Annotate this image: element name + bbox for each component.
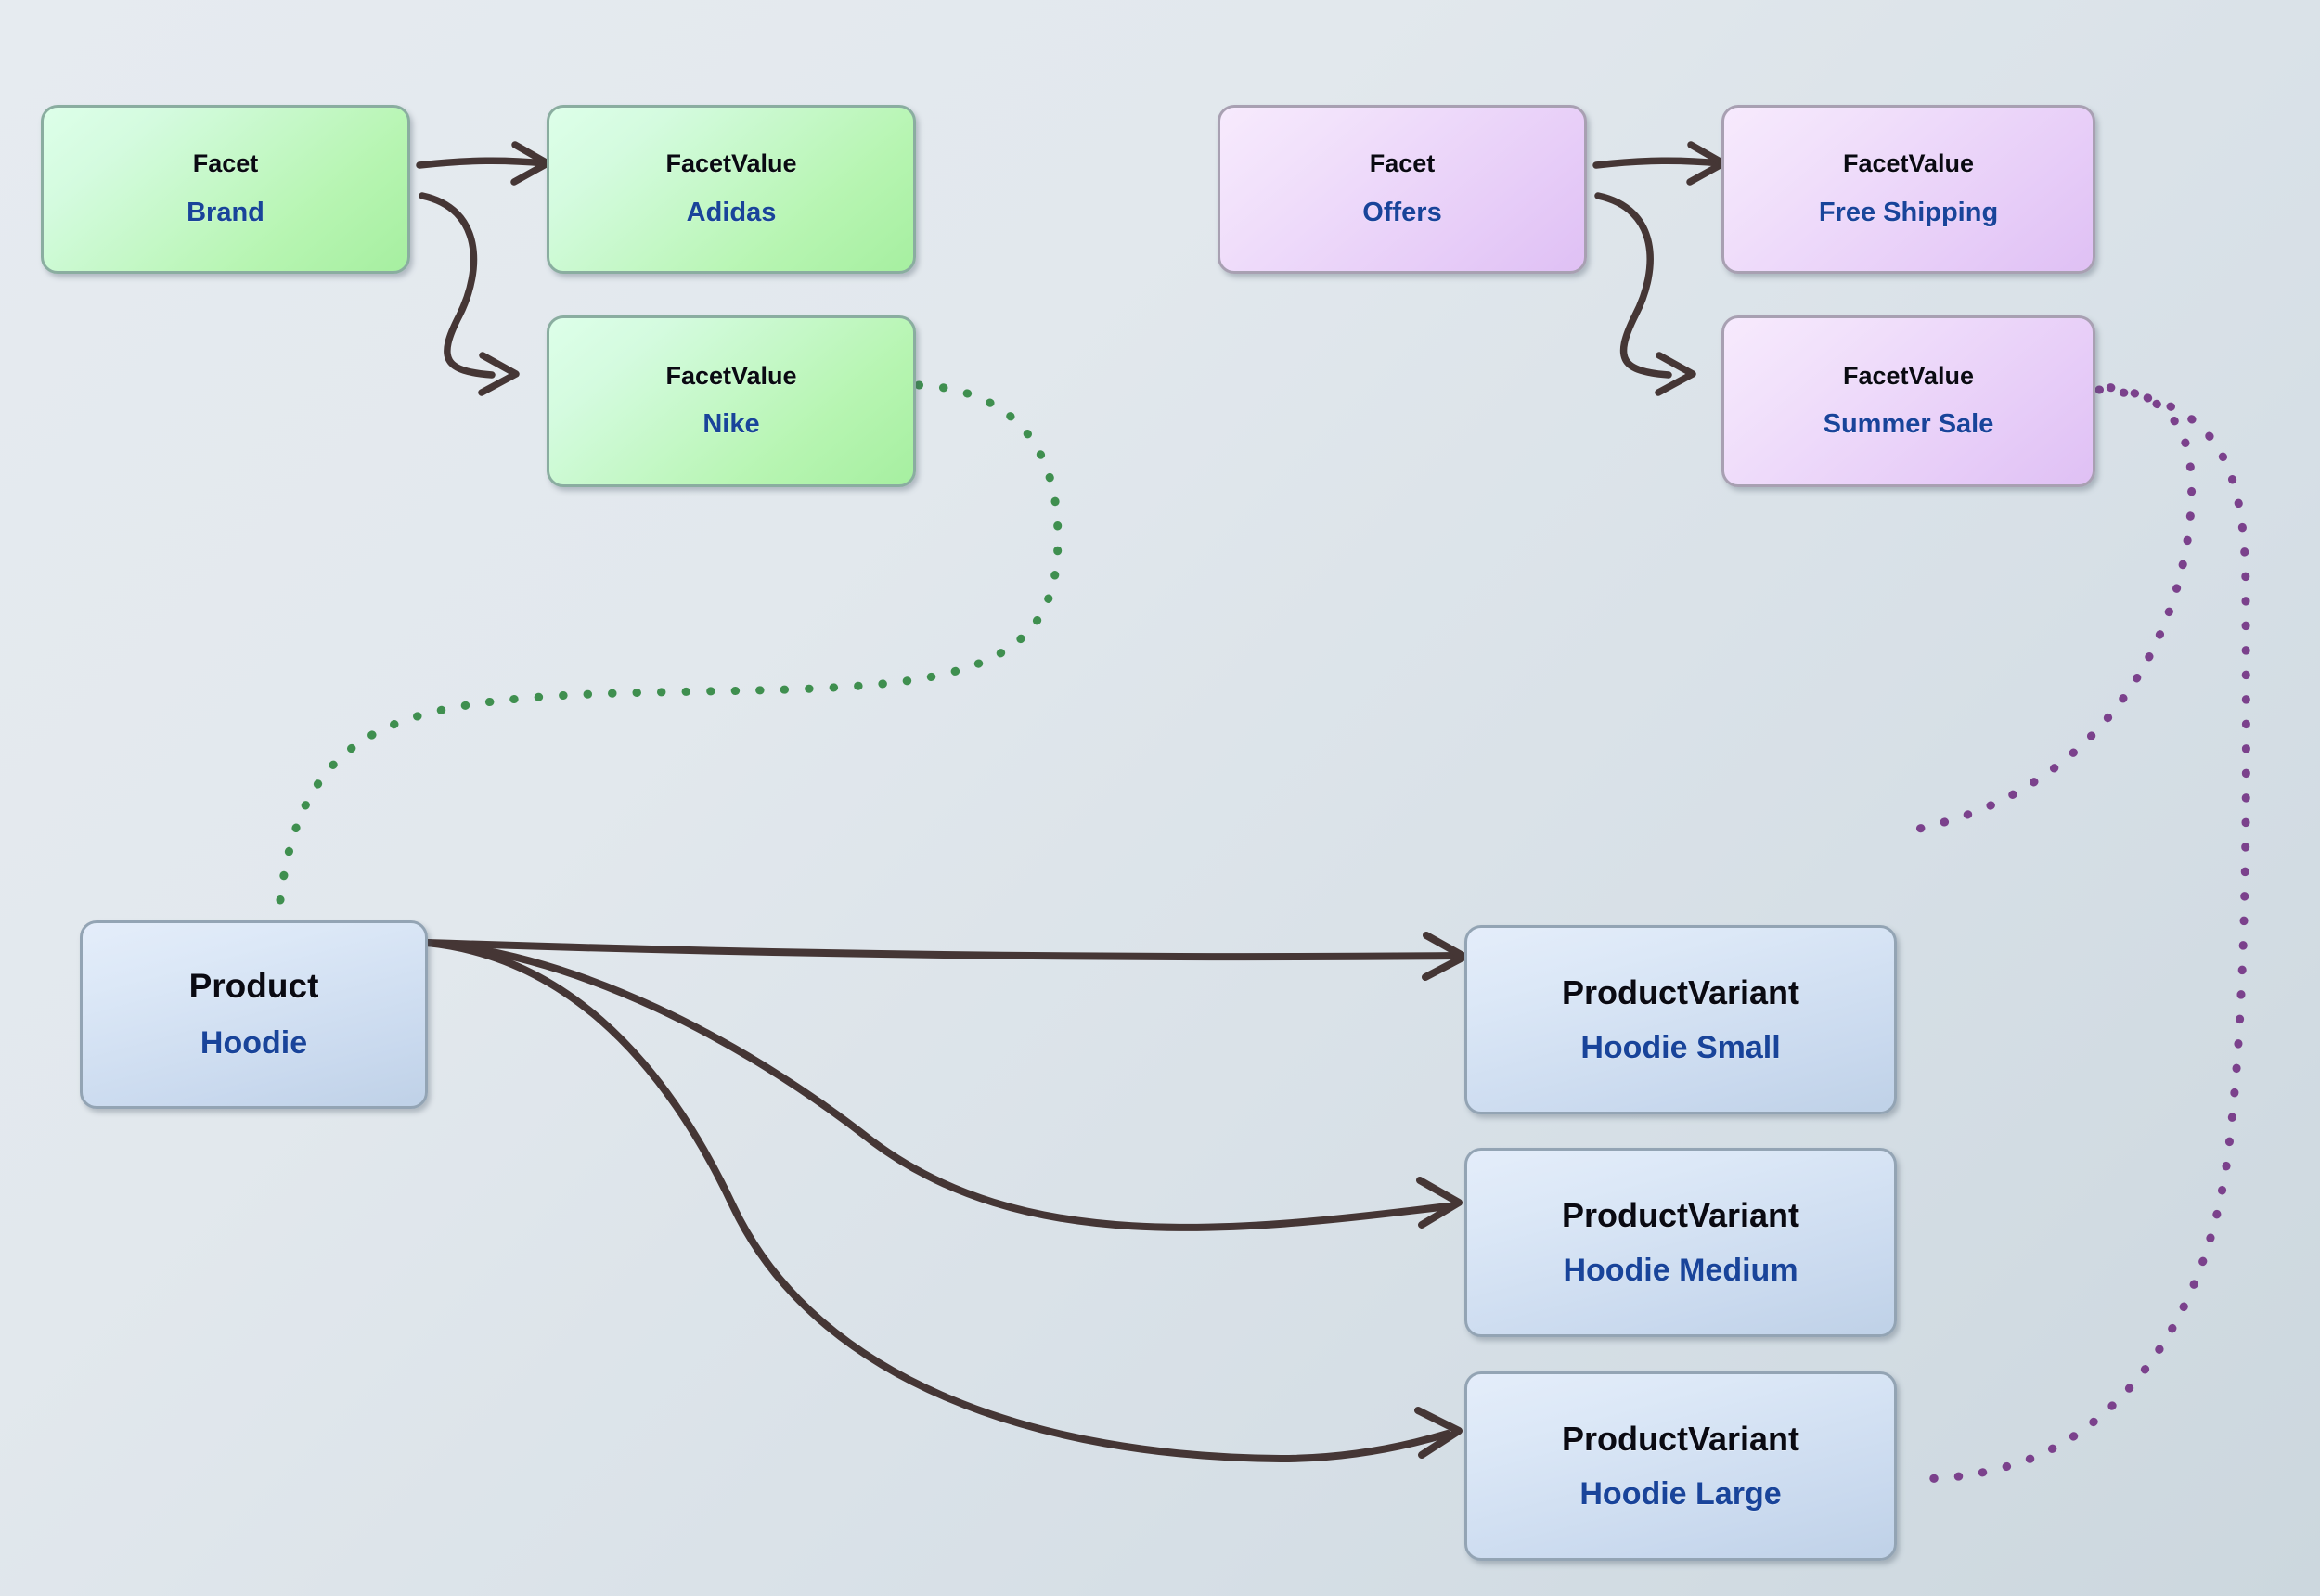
node-type-label: Facet <box>1370 150 1436 178</box>
node-type-label: FacetValue <box>665 363 796 391</box>
edge-brand-nike <box>422 196 516 393</box>
node-facet-offers[interactable]: Facet Offers <box>1218 105 1587 274</box>
node-value-label: Hoodie Medium <box>1563 1254 1798 1288</box>
node-variant-hoodie-large[interactable]: ProductVariant Hoodie Large <box>1464 1371 1897 1561</box>
node-variant-hoodie-medium[interactable]: ProductVariant Hoodie Medium <box>1464 1148 1897 1337</box>
node-product-hoodie[interactable]: Product Hoodie <box>80 920 428 1109</box>
node-facetvalue-nike[interactable]: FacetValue Nike <box>547 315 916 487</box>
node-facetvalue-adidas[interactable]: FacetValue Adidas <box>547 105 916 274</box>
node-value-label: Brand <box>187 199 264 228</box>
edge-offers-freeshipping <box>1596 145 1723 182</box>
edge-summersale-variant-large <box>1912 390 2246 1479</box>
node-facetvalue-summer-sale[interactable]: FacetValue Summer Sale <box>1721 315 2095 487</box>
node-value-label: Hoodie Small <box>1580 1031 1780 1065</box>
node-value-label: Nike <box>702 410 759 440</box>
node-facetvalue-free-shipping[interactable]: FacetValue Free Shipping <box>1721 105 2095 274</box>
node-type-label: ProductVariant <box>1562 1421 1799 1458</box>
node-type-label: FacetValue <box>1843 150 1974 178</box>
node-variant-hoodie-small[interactable]: ProductVariant Hoodie Small <box>1464 925 1897 1114</box>
edge-brand-adidas <box>419 145 548 182</box>
edge-offers-summersale <box>1598 196 1693 393</box>
edge-product-variant-medium <box>427 943 1459 1228</box>
node-type-label: Facet <box>193 150 259 178</box>
node-type-label: FacetValue <box>1843 363 1974 391</box>
node-facet-brand[interactable]: Facet Brand <box>41 105 410 274</box>
node-value-label: Adidas <box>687 199 777 228</box>
node-value-label: Offers <box>1362 199 1441 228</box>
node-value-label: Hoodie <box>200 1026 307 1061</box>
node-value-label: Free Shipping <box>1819 199 1998 228</box>
node-type-label: ProductVariant <box>1562 974 1799 1011</box>
node-type-label: Product <box>189 968 319 1006</box>
diagram-canvas: Facet Brand FacetValue Adidas FacetValue… <box>0 0 2320 1596</box>
node-value-label: Hoodie Large <box>1579 1477 1781 1512</box>
node-type-label: ProductVariant <box>1562 1197 1799 1234</box>
node-value-label: Summer Sale <box>1824 410 1994 440</box>
edge-product-variant-small <box>427 935 1464 977</box>
node-type-label: FacetValue <box>665 150 796 178</box>
edge-product-variant-large <box>427 943 1459 1459</box>
